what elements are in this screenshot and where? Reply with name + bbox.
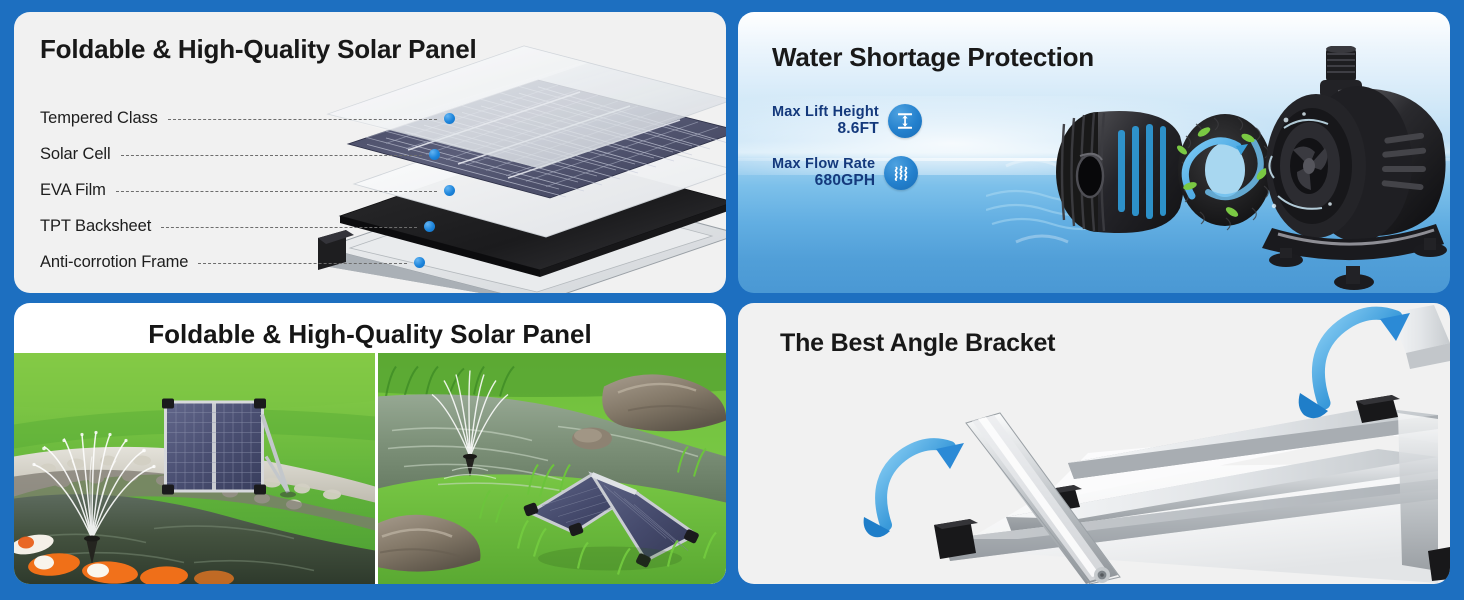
panel-angle-bracket: The Best Angle Bracket <box>738 303 1450 584</box>
spec-text-group: Max Flow Rate 680GPH <box>772 156 875 190</box>
solar-layer-row-tpt-backsheet: TPT Backsheet <box>40 208 435 244</box>
solar-layer-label: Solar Cell <box>40 145 111 164</box>
spec-value: 680GPH <box>772 172 875 189</box>
leader-line <box>116 191 437 192</box>
spec-text-group: Max Lift Height 8.6FT <box>772 104 879 138</box>
solar-layer-row-tempered-class: Tempered Class <box>40 100 455 136</box>
foam-filter-ring <box>1175 114 1272 230</box>
pump-spec-list: Max Lift Height 8.6FT Max Flow Rate <box>772 104 922 208</box>
water-pump-assembly-illustration <box>986 46 1450 293</box>
solar-layer-row-anti-corrotion-frame: Anti-corrotion Frame <box>40 244 425 280</box>
solar-layer-label: Tempered Class <box>40 109 158 128</box>
solar-layer-label-list: Tempered Class Solar Cell EVA Film TPT B… <box>40 100 470 280</box>
leader-dot-icon <box>429 149 440 160</box>
spec-value: 8.6FT <box>772 120 879 137</box>
panel-solar-layers: Foldable & High-Quality Solar Panel Temp… <box>14 12 726 293</box>
panel-water-title: Water Shortage Protection <box>772 42 1094 73</box>
leader-dot-icon <box>444 113 455 124</box>
flow-rate-icon <box>884 156 918 190</box>
koi-pond-fountain-with-solar-panel-photo <box>14 353 375 584</box>
leader-line <box>161 227 417 228</box>
leader-line <box>168 119 437 120</box>
solar-layer-label: EVA Film <box>40 181 106 200</box>
product-infographic-poster: Foldable & High-Quality Solar Panel Temp… <box>0 0 1464 600</box>
spec-label: Max Lift Height <box>772 104 879 120</box>
panel-photos-title: Foldable & High-Quality Solar Panel <box>14 319 726 350</box>
panel-bracket-title: The Best Angle Bracket <box>780 329 1055 358</box>
submersible-water-pump <box>1262 46 1447 290</box>
spec-max-flow-rate: Max Flow Rate 680GPH <box>772 156 922 190</box>
pump-prefilter-cage <box>1056 111 1185 233</box>
spec-label: Max Flow Rate <box>772 156 875 172</box>
lift-height-icon <box>888 104 922 138</box>
leader-dot-icon <box>424 221 435 232</box>
solar-layer-row-eva-film: EVA Film <box>40 172 455 208</box>
bracket-frame <box>934 395 1450 583</box>
solar-layer-label: Anti-corrotion Frame <box>40 253 188 272</box>
garden-stream-fountain-with-folded-solar-panel-photo <box>378 353 726 584</box>
panel-water-shortage-protection: Water Shortage Protection Max Lift Heigh… <box>738 12 1450 293</box>
spec-max-lift-height: Max Lift Height 8.6FT <box>772 104 922 138</box>
leader-line <box>198 263 407 264</box>
leader-dot-icon <box>444 185 455 196</box>
panel-product-photos: Foldable & High-Quality Solar Panel <box>14 303 726 584</box>
leader-dot-icon <box>414 257 425 268</box>
photo-strip <box>14 353 726 584</box>
leader-line <box>121 155 422 156</box>
solar-layer-label: TPT Backsheet <box>40 217 151 236</box>
solar-layer-row-solar-cell: Solar Cell <box>40 136 440 172</box>
panel-solar-layers-title: Foldable & High-Quality Solar Panel <box>40 34 477 65</box>
